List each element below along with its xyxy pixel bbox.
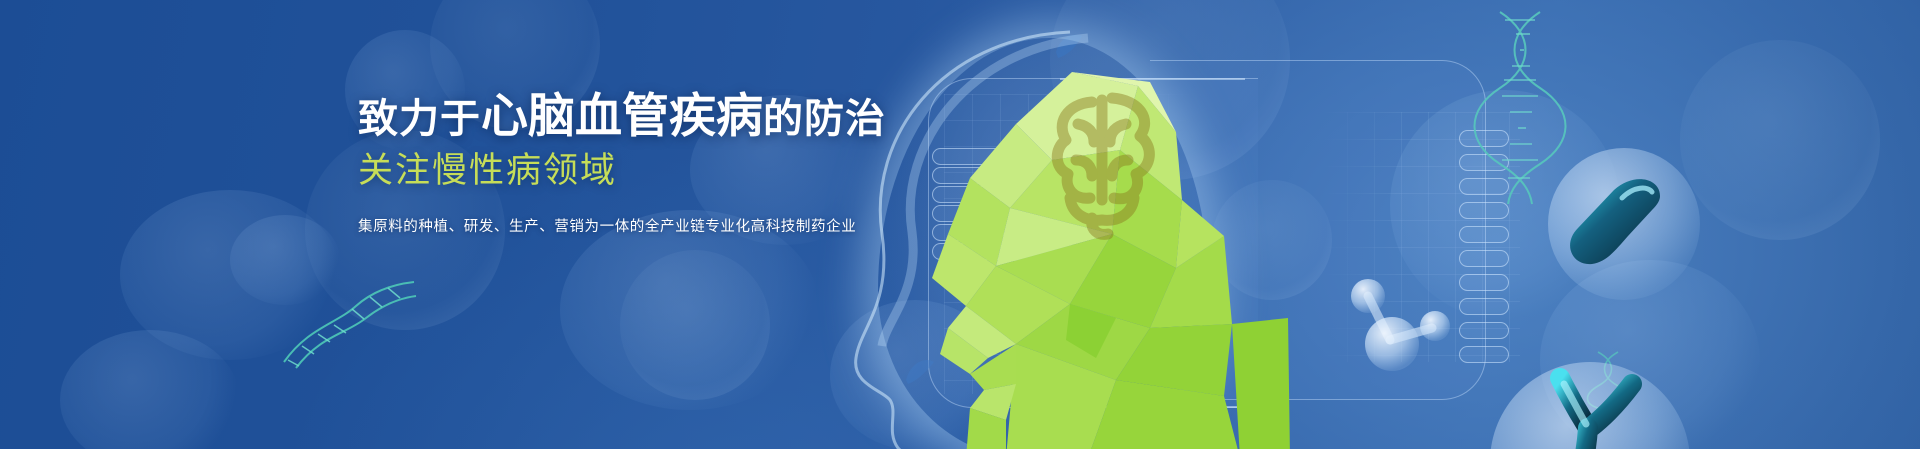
bokeh-circle bbox=[560, 210, 820, 410]
tagline: 集原料的种植、研发、生产、营销为一体的全产业链专业化高科技制药企业 bbox=[358, 215, 978, 236]
headline: 致力于心脑血管疾病的防治 bbox=[358, 92, 978, 139]
molecule-icon bbox=[1340, 268, 1480, 398]
hud-bar bbox=[1459, 226, 1509, 243]
antibody-cell-icon bbox=[1490, 362, 1690, 449]
banner-copy: 致力于心脑血管疾病的防治 关注慢性病领域 集原料的种植、研发、生产、营销为一体的… bbox=[358, 92, 978, 236]
headline-prefix: 致力于 bbox=[358, 97, 481, 141]
hud-bar bbox=[1459, 250, 1509, 267]
hero-banner: 致力于心脑血管疾病的防治 关注慢性病领域 集原料的种植、研发、生产、营销为一体的… bbox=[0, 0, 1920, 449]
bokeh-circle bbox=[60, 330, 240, 449]
headline-emphasis: 心脑血管疾病 bbox=[481, 89, 763, 142]
subheadline: 关注慢性病领域 bbox=[358, 153, 978, 188]
bacillus-cell-icon bbox=[1548, 148, 1700, 300]
bokeh-circle bbox=[620, 250, 770, 400]
dna-helix-icon bbox=[278, 262, 418, 372]
headline-suffix: 的防治 bbox=[763, 97, 886, 141]
bokeh-circle bbox=[1680, 40, 1880, 240]
